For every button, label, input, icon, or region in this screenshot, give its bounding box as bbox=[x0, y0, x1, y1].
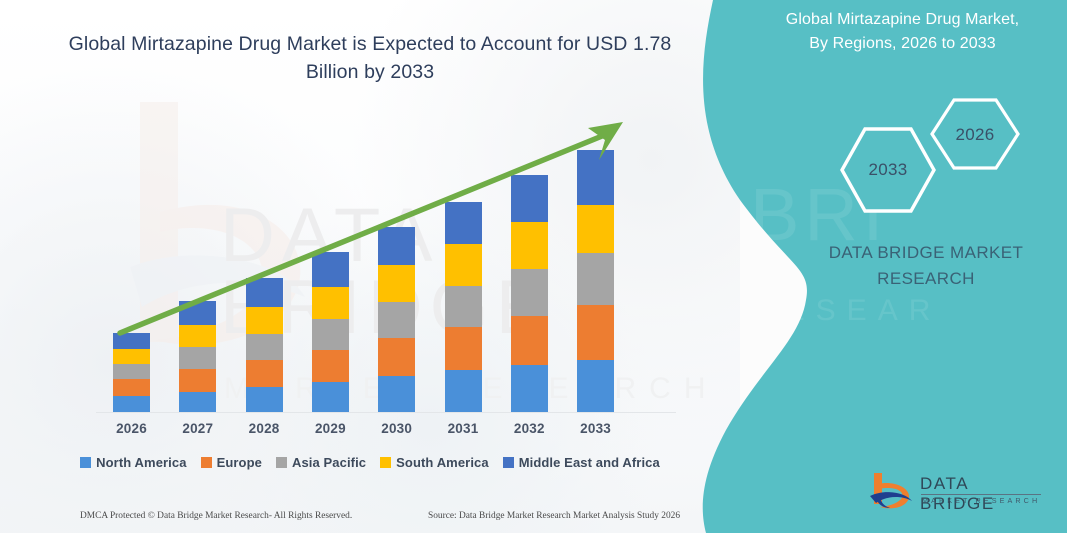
footer-source: Source: Data Bridge Market Research Mark… bbox=[428, 511, 680, 521]
legend-swatch-icon bbox=[80, 457, 91, 468]
bar-segment bbox=[113, 379, 150, 396]
svg-text:RESEAR: RESEAR bbox=[752, 294, 941, 327]
legend-label: Middle East and Africa bbox=[519, 455, 660, 470]
bar-segment bbox=[312, 252, 349, 287]
legend-swatch-icon bbox=[380, 457, 391, 468]
x-axis-label-2033: 2033 bbox=[566, 421, 626, 436]
chart-legend: North AmericaEuropeAsia PacificSouth Ame… bbox=[0, 455, 740, 470]
bar-segment bbox=[113, 364, 150, 379]
x-axis-label-2031: 2031 bbox=[433, 421, 493, 436]
bar-segment bbox=[312, 350, 349, 382]
legend-item[interactable]: Middle East and Africa bbox=[503, 455, 660, 470]
svg-text:BRI: BRI bbox=[750, 173, 888, 256]
bar-segment bbox=[378, 338, 415, 376]
bar-segment bbox=[246, 387, 283, 412]
legend-swatch-icon bbox=[276, 457, 287, 468]
bar-segment bbox=[179, 392, 216, 412]
bar-segment bbox=[445, 202, 482, 244]
bar-segment bbox=[445, 244, 482, 286]
brand-name: DATA BRIDGE MARKET RESEARCH bbox=[800, 240, 1052, 293]
hexagon-group: 2026 2033 bbox=[820, 92, 1060, 222]
data-bridge-logo: DATA BRIDGE MARKET RESEARCH bbox=[868, 470, 1048, 518]
bar-segment bbox=[113, 396, 150, 412]
brand-name-line-1: DATA BRIDGE MARKET bbox=[800, 240, 1052, 266]
brand-title-line-2: By Regions, 2026 to 2033 bbox=[745, 32, 1060, 56]
bar-segment bbox=[312, 319, 349, 350]
bar-segment bbox=[378, 265, 415, 302]
hexagon-2033-shape bbox=[842, 129, 934, 211]
hexagon-2026-shape bbox=[932, 100, 1018, 168]
bar-segment bbox=[378, 302, 415, 338]
logo-rule bbox=[921, 494, 1041, 495]
bar-segment bbox=[378, 376, 415, 412]
legend-item[interactable]: North America bbox=[80, 455, 186, 470]
hexagon-label-2026: 2026 bbox=[951, 125, 999, 145]
bar-segment bbox=[511, 269, 548, 316]
legend-item[interactable]: Europe bbox=[201, 455, 262, 470]
x-axis-label-2030: 2030 bbox=[367, 421, 427, 436]
brand-panel-title: Global Mirtazapine Drug Market, By Regio… bbox=[745, 8, 1060, 56]
logo-subline: MARKET RESEARCH bbox=[922, 496, 1040, 505]
data-bridge-mark-icon bbox=[868, 470, 918, 516]
bar-segment bbox=[577, 150, 614, 205]
legend-label: North America bbox=[96, 455, 186, 470]
x-axis-labels: 20262027202820292030203120322033 bbox=[0, 421, 740, 443]
bar-segment bbox=[246, 334, 283, 360]
bar-segment bbox=[378, 227, 415, 265]
hexagon-shapes-icon bbox=[820, 92, 1060, 222]
bar-segment bbox=[445, 286, 482, 327]
brand-panel-watermark: BRI RESEAR bbox=[740, 150, 1067, 380]
x-axis-label-2026: 2026 bbox=[102, 421, 162, 436]
hexagon-label-2033: 2033 bbox=[864, 160, 912, 180]
legend-swatch-icon bbox=[201, 457, 212, 468]
legend-item[interactable]: Asia Pacific bbox=[276, 455, 366, 470]
bar-segment bbox=[246, 278, 283, 307]
bar-segment bbox=[179, 301, 216, 325]
legend-swatch-icon bbox=[503, 457, 514, 468]
bar-segment bbox=[577, 205, 614, 253]
x-axis-label-2027: 2027 bbox=[168, 421, 228, 436]
bar-segment bbox=[246, 307, 283, 334]
footer: DMCA Protected © Data Bridge Market Rese… bbox=[0, 505, 740, 527]
bar-column-2027 bbox=[179, 301, 216, 412]
x-axis-label-2029: 2029 bbox=[300, 421, 360, 436]
x-axis-line bbox=[96, 412, 676, 413]
infographic-root: DATA BRIDGE MARKET RESEARCH Global Mirta… bbox=[0, 0, 1067, 533]
legend-label: Europe bbox=[217, 455, 262, 470]
footer-copyright: DMCA Protected © Data Bridge Market Rese… bbox=[80, 511, 352, 521]
chart-panel: DATA BRIDGE MARKET RESEARCH Global Mirta… bbox=[0, 0, 740, 533]
bar-segment bbox=[179, 325, 216, 347]
bar-segment bbox=[577, 305, 614, 360]
legend-label: South America bbox=[396, 455, 489, 470]
bar-column-2030 bbox=[378, 227, 415, 412]
bar-segment bbox=[511, 365, 548, 412]
bar-segment bbox=[113, 349, 150, 364]
bar-column-2032 bbox=[511, 175, 548, 412]
bar-segment bbox=[577, 253, 614, 305]
bar-segment bbox=[445, 370, 482, 412]
bar-segment bbox=[246, 360, 283, 387]
bar-segment bbox=[179, 369, 216, 392]
x-axis-label-2032: 2032 bbox=[499, 421, 559, 436]
bar-column-2029 bbox=[312, 252, 349, 412]
bar-segment bbox=[511, 175, 548, 222]
bar-segment bbox=[577, 360, 614, 412]
bar-column-2028 bbox=[246, 278, 283, 412]
bar-segment bbox=[312, 382, 349, 412]
bar-segment bbox=[312, 287, 349, 319]
brand-name-line-2: RESEARCH bbox=[800, 266, 1052, 292]
bar-segment bbox=[179, 347, 216, 369]
bar-column-2031 bbox=[445, 202, 482, 412]
bars-layer bbox=[0, 0, 740, 533]
x-axis-label-2028: 2028 bbox=[234, 421, 294, 436]
legend-item[interactable]: South America bbox=[380, 455, 489, 470]
bar-column-2033 bbox=[577, 150, 614, 412]
bar-segment bbox=[511, 222, 548, 269]
bar-segment bbox=[445, 327, 482, 370]
brand-title-line-1: Global Mirtazapine Drug Market, bbox=[745, 8, 1060, 32]
bar-column-2026 bbox=[113, 333, 150, 412]
bar-segment bbox=[113, 333, 150, 349]
logo-wordmark: DATA BRIDGE bbox=[920, 474, 1048, 514]
legend-label: Asia Pacific bbox=[292, 455, 366, 470]
bar-segment bbox=[511, 316, 548, 365]
